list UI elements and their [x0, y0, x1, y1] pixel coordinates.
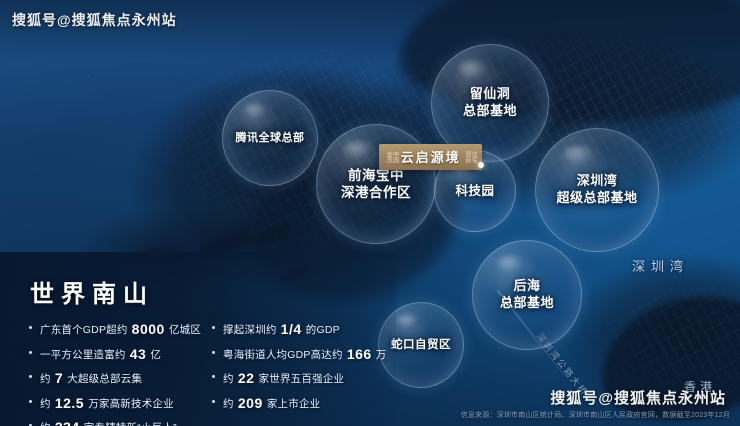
page-title: 世界南山	[30, 274, 378, 309]
bubble-qianhai-baozhong-szhk-zone[interactable]: 前海宝中 深港合作区	[316, 124, 436, 244]
stat-suffix: 万家高新技术企业	[85, 398, 174, 410]
stat-prefix: 约	[223, 398, 237, 410]
stat-prefix: 约	[40, 422, 54, 426]
stat-item: 约 209 家上市企业	[211, 395, 383, 413]
stat-item: 约 12.5 万家高新技术企业	[28, 395, 201, 413]
stat-value: 209	[237, 395, 264, 411]
map-infographic: 深圳湾公路大桥 深圳湾 香港 腾讯全球总部 留仙洞 总部基地 前海宝中 深港合作…	[0, 0, 740, 426]
stats-list-right: 撑起深圳约 1/4 的GDP粤海街道人均GDP高达约 166 万约 22 家世界…	[211, 321, 383, 426]
info-panel: 世界南山 广东首个GDP超约 8000 亿城区一平方公里造富约 43 亿约 7 …	[0, 252, 396, 426]
stat-item: 一平方公里造富约 43 亿	[28, 346, 201, 364]
bubble-label: 蛇口自贸区	[391, 338, 451, 353]
stat-suffix: 的GDP	[303, 324, 340, 336]
stat-prefix: 粤海街道人均GDP高达约	[223, 349, 346, 361]
stat-suffix: 亿	[147, 349, 161, 361]
bubble-tencent-global-hq[interactable]: 腾讯全球总部	[222, 90, 318, 186]
stat-value: 43	[129, 346, 148, 362]
stat-suffix: 万	[373, 349, 387, 361]
stat-value: 8000	[131, 321, 166, 337]
stat-suffix: 亿城区	[166, 324, 201, 336]
stat-item: 广东首个GDP超约 8000 亿城区	[28, 321, 201, 339]
stats-columns: 广东首个GDP超约 8000 亿城区一平方公里造富约 43 亿约 7 大超级总部…	[28, 321, 378, 426]
stat-suffix: 家世界五百强企业	[255, 373, 344, 385]
bubble-shenzhen-bay-super-hq-base[interactable]: 深圳湾 超级总部基地	[535, 128, 659, 252]
source-note: 信息来源：深圳市南山区统计局、深圳市南山区人民政府官网，数据截至2023年12月	[461, 410, 730, 420]
stat-prefix: 一平方公里造富约	[40, 349, 129, 361]
bubble-label: 科技园	[455, 183, 494, 199]
stat-prefix: 约	[223, 373, 237, 385]
stat-item: 约 7 大超级总部云集	[28, 370, 201, 388]
stat-item: 粤海街道人均GDP高达约 166 万	[211, 346, 383, 364]
stat-value: 234	[54, 419, 81, 426]
callout-mark-right: 住宅 项目	[464, 151, 477, 163]
stat-suffix: 家专精特新“小巨人”	[81, 422, 177, 426]
bubble-label: 前海宝中 深港合作区	[341, 167, 411, 202]
bubble-label: 深圳湾 超级总部基地	[556, 173, 637, 206]
stat-value: 166	[346, 346, 373, 362]
callout-project-name: 云启源境	[401, 147, 461, 166]
stat-value: 22	[237, 370, 256, 386]
stat-prefix: 约	[40, 373, 54, 385]
bubble-label: 腾讯全球总部	[236, 131, 305, 145]
stat-suffix: 大超级总部云集	[64, 373, 142, 385]
bubble-label: 后海 总部基地	[500, 278, 554, 311]
stat-value: 1/4	[280, 321, 303, 337]
project-location-dot	[478, 162, 484, 168]
stat-prefix: 广东首个GDP超约	[40, 324, 131, 336]
stat-value: 7	[54, 370, 64, 386]
callout-mark-left: 中国 金茂	[385, 151, 398, 163]
stat-suffix: 家上市企业	[264, 398, 321, 410]
stat-prefix: 撑起深圳约	[223, 324, 280, 336]
bubble-houhai-hq-base[interactable]: 后海 总部基地	[472, 240, 582, 350]
stat-item: 约 22 家世界五百强企业	[211, 370, 383, 388]
stat-prefix: 约	[40, 398, 54, 410]
stats-list-left: 广东首个GDP超约 8000 亿城区一平方公里造富约 43 亿约 7 大超级总部…	[28, 321, 201, 426]
stat-value: 12.5	[54, 395, 85, 411]
stat-item: 撑起深圳约 1/4 的GDP	[211, 321, 383, 339]
bubble-label: 留仙洞 总部基地	[463, 86, 517, 119]
project-callout-badge[interactable]: 中国 金茂 云启源境 住宅 项目	[379, 144, 482, 170]
stat-item: 约 234 家专精特新“小巨人”	[28, 419, 201, 426]
